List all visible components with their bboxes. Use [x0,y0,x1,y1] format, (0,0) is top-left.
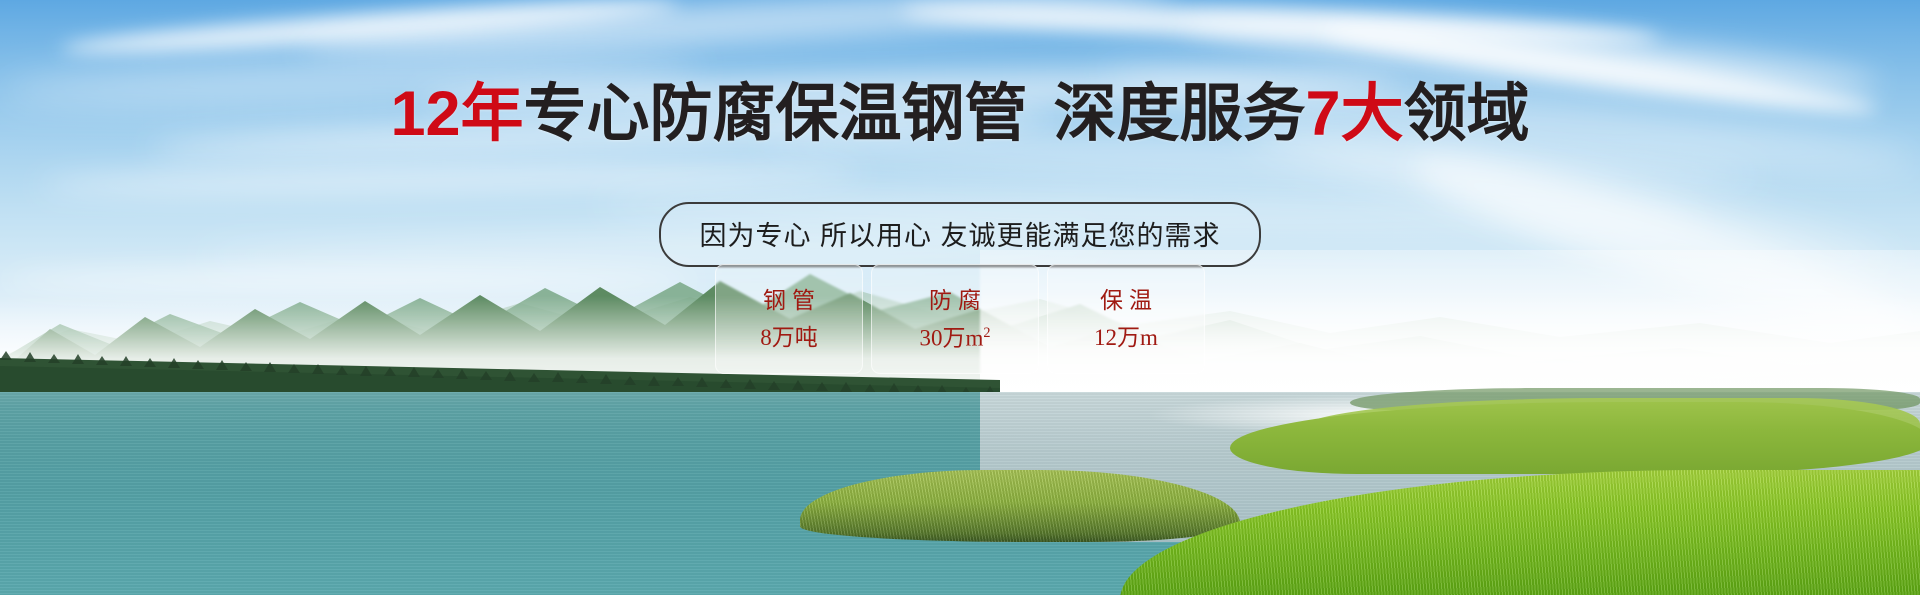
stat-value-number: 30 [919,325,942,350]
headline-middle: 专心防腐保温钢管 [524,79,1028,149]
stat-card-title: 保温 [1094,289,1158,312]
stat-card-anticorrosion[interactable]: 防腐 30万m2 [871,264,1039,374]
subtitle-container: 因为专心 所以用心 友诚更能满足您的需求 [0,202,1920,267]
stat-card-group: 钢管 8万吨 防腐 30万m2 保温 12万m [0,264,1920,374]
stat-card-value: 8万吨 [760,326,818,349]
stat-value-number: 8 [760,325,772,350]
subtitle-pill: 因为专心 所以用心 友诚更能满足您的需求 [659,202,1260,267]
headline-service: 深度服务 [1054,79,1306,149]
headline-fields-number: 7 [1306,79,1341,149]
stat-value-unit: 万m [942,325,983,350]
stat-value-superscript: 2 [983,325,990,341]
headline-fields-measure: 大 [1341,79,1404,149]
headline-fields-label: 领域 [1404,79,1530,149]
stat-card-insulation[interactable]: 保温 12万m [1047,264,1205,374]
stat-value-unit: 万m [1117,325,1158,350]
stat-card-steel-pipe[interactable]: 钢管 8万吨 [715,264,863,374]
stat-value-number: 12 [1094,325,1117,350]
hero-banner: 12年专心防腐保温钢管深度服务7大领域 因为专心 所以用心 友诚更能满足您的需求… [0,0,1920,595]
headline: 12年专心防腐保温钢管深度服务7大领域 [0,83,1920,146]
headline-years-number: 12 [390,79,460,149]
stat-card-value: 30万m2 [919,326,990,350]
stat-card-title: 防腐 [923,289,987,312]
stat-card-value: 12万m [1094,326,1158,349]
headline-years-unit: 年 [461,79,524,149]
stat-card-title: 钢管 [757,289,821,312]
stat-value-unit: 万吨 [772,325,818,350]
